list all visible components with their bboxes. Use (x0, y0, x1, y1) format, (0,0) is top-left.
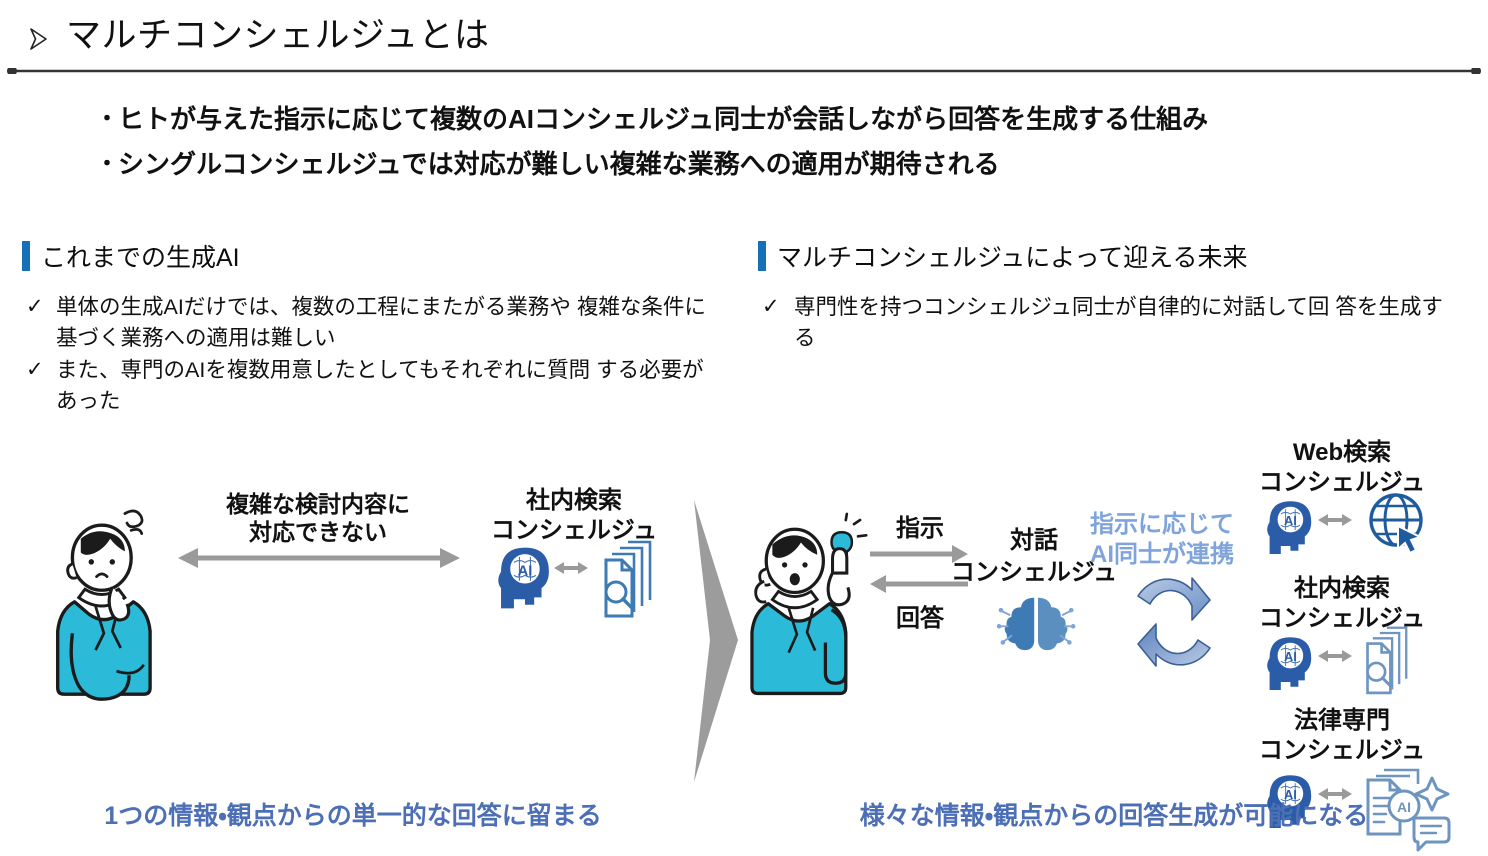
agent-web-title-line-2: コンシェルジュ (1259, 469, 1425, 496)
diagram-right-graphic: 指示 回答 対話 コンシェルジュ (742, 436, 1482, 774)
check-icon: ✓ (762, 292, 794, 322)
double-headed-arrow-icon (1318, 514, 1352, 526)
flow-label-to-agent: 指示 (896, 515, 944, 542)
loop-label-line-1: 指示に応じて (1090, 511, 1234, 538)
double-headed-arrow-icon (178, 548, 460, 568)
globe-cursor-icon (1371, 495, 1421, 553)
diagram-right: 指示 回答 対話 コンシェルジュ (742, 436, 1482, 774)
bullet-marker: ・ (96, 104, 118, 134)
ai-head-icon: AI (1267, 637, 1311, 690)
hub-title-line-1: 対話 (1010, 527, 1058, 554)
circuit-brain-icon (997, 598, 1076, 650)
flow-label-from-agent: 回答 (896, 604, 945, 632)
bullet-item: ・ シングルコンシェルジュでは対応が難しい複雑な業務への適用が期待される (96, 149, 1466, 181)
agent-web-title-line-1: Web検索 (1293, 439, 1391, 466)
section-heading-left-label: これまでの生成AI (41, 238, 240, 274)
svg-text:AI: AI (1284, 513, 1297, 528)
loop-label-line-2: AI同士が連携 (1090, 540, 1234, 568)
svg-text:AI: AI (1284, 649, 1297, 664)
svg-text:AI: AI (518, 563, 533, 579)
check-line: 専門性を持つコンシェルジュ同士が自律的に対話して回 (794, 295, 1329, 319)
bullet-text: シングルコンシェルジュでは対応が難しい複雑な業務への適用が期待される (118, 149, 1000, 181)
bullet-item: ・ ヒトが与えた指示に応じて複数のAIコンシェルジュ同士が会話しながら回答を生成… (96, 104, 1466, 136)
accent-bar (22, 241, 30, 271)
check-text: 専門性を持つコンシェルジュ同士が自律的に対話して回 答を生成する (794, 292, 1462, 353)
check-item: ✓ 単体の生成AIだけでは、複数の工程にまたがる業務や 複雑な条件に基づく業務へ… (26, 292, 716, 353)
caption-left: 1つの情報・観点からの単一的な回答に留まる (0, 796, 706, 832)
check-item: ✓ また、専門のAIを複数用意したとしてもそれぞれに質問 する必要があった (26, 355, 716, 416)
check-item: ✓ 専門性を持つコンシェルジュ同士が自律的に対話して回 答を生成する (762, 292, 1462, 353)
bullet-list: ・ ヒトが与えた指示に応じて複数のAIコンシェルジュ同士が会話しながら回答を生成… (96, 104, 1466, 193)
title-divider-rule (6, 68, 1482, 74)
checklist-right: ✓ 専門性を持つコンシェルジュ同士が自律的に対話して回 答を生成する (762, 292, 1462, 355)
agent-legal-title-line-1: 法律専門 (1294, 707, 1390, 734)
accent-bar (758, 241, 766, 271)
agent-internal-title-line-1: 社内検索 (1293, 575, 1390, 602)
ai-head-icon: AI (498, 548, 549, 609)
check-icon: ✓ (26, 355, 56, 385)
page-title-text: マルチコンシェルジュとは (66, 17, 490, 56)
section-heading-right-label: マルチコンシェルジュによって迎える未来 (777, 238, 1248, 274)
bullet-marker: ・ (96, 149, 118, 179)
double-headed-arrow-icon (554, 562, 588, 574)
check-text: 単体の生成AIだけでは、複数の工程にまたがる業務や 複雑な条件に基づく業務への適… (56, 292, 716, 353)
double-headed-arrow-icon (1318, 650, 1352, 662)
thinking-person-icon (58, 511, 150, 699)
relation-label-line-2: 対応できない (249, 519, 387, 545)
section-heading-right: マルチコンシェルジュによって迎える未来 (758, 238, 1248, 274)
section-heading-left: これまでの生成AI (22, 238, 240, 274)
caption-right: 様々な情報・観点からの回答生成が可能になる (740, 796, 1488, 832)
document-search-icon (1368, 628, 1407, 693)
check-line: また、専門のAIを複数用意したとしてもそれぞれに質問 (56, 358, 590, 382)
slide-canvas: マルチコンシェルジュとは ・ ヒトが与えた指示に応じて複数のAIコンシェルジュ同… (0, 0, 1488, 844)
diagram-left-graphic: 複雑な検討内容に 対応できない 社内検索 コンシェルジュ AI (18, 436, 686, 774)
check-text: また、専門のAIを複数用意したとしてもそれぞれに質問 する必要があった (56, 355, 716, 416)
agent-title-line-1: 社内検索 (525, 487, 622, 514)
checklist-left: ✓ 単体の生成AIだけでは、複数の工程にまたがる業務や 複雑な条件に基づく業務へ… (26, 292, 716, 418)
relation-label-line-1: 複雑な検討内容に (226, 491, 410, 517)
document-search-icon (606, 542, 650, 616)
idea-person-icon (752, 514, 866, 694)
agent-legal-title-line-2: コンシェルジュ (1259, 737, 1425, 764)
chevron-bullet-icon (26, 26, 52, 52)
ai-head-icon: AI (1267, 501, 1311, 554)
chevron-right-arrow-icon (688, 500, 742, 782)
agent-title-line-2: コンシェルジュ (491, 517, 657, 544)
circular-sync-arrows-icon (1138, 578, 1210, 666)
diagram-left: 複雑な検討内容に 対応できない 社内検索 コンシェルジュ AI (18, 436, 686, 774)
page-title: マルチコンシェルジュとは (0, 8, 1488, 64)
check-icon: ✓ (26, 292, 56, 322)
bullet-text: ヒトが与えた指示に応じて複数のAIコンシェルジュ同士が会話しながら回答を生成する… (118, 104, 1208, 136)
check-line: 単体の生成AIだけでは、複数の工程にまたがる業務や (56, 295, 571, 319)
